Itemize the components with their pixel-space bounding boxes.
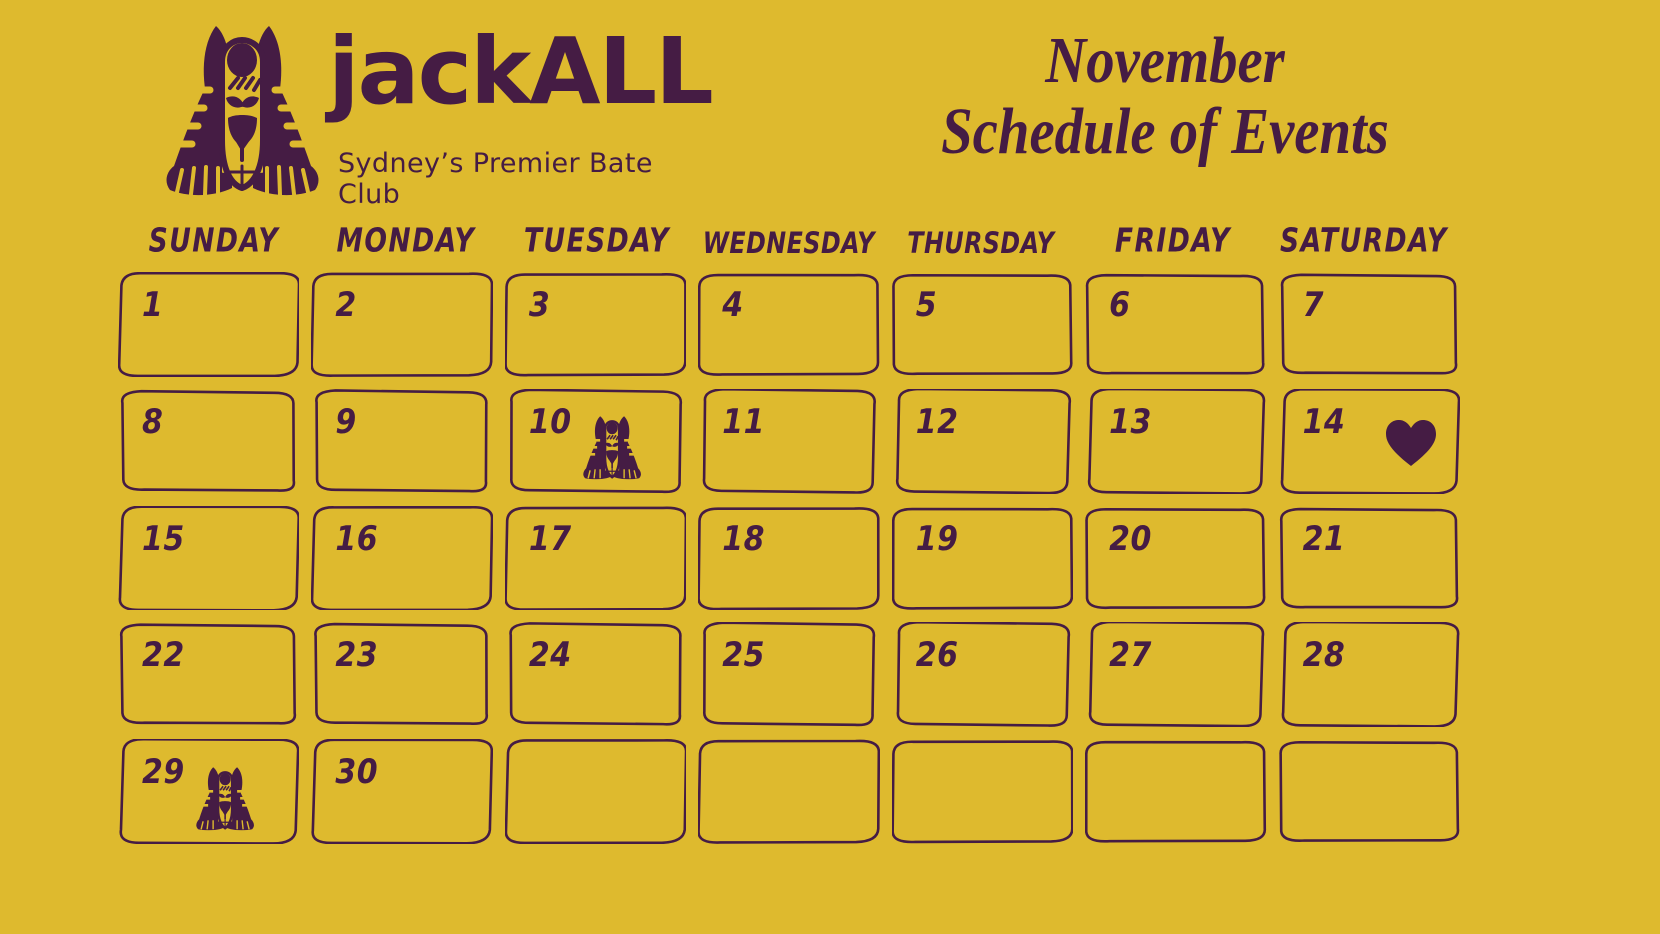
day-number: 6 <box>1109 286 1130 325</box>
calendar-day-cell[interactable]: 3 <box>505 272 686 377</box>
weekday-monday: MONDAY <box>314 221 496 260</box>
weekday-saturday: SATURDAY <box>1273 221 1455 260</box>
brand-lockup: jackALL Sydney’s Premier Bate Club <box>160 8 680 198</box>
weekday-header-row: SUNDAY MONDAY TUESDAY WEDNESDAY THURSDAY… <box>118 208 1460 260</box>
calendar-day-cell[interactable] <box>1085 739 1266 844</box>
day-number: 3 <box>529 286 550 325</box>
calendar-day-cell[interactable]: 16 <box>311 506 492 611</box>
day-number: 20 <box>1109 520 1152 559</box>
day-number: 15 <box>142 520 185 559</box>
day-cell-border <box>1085 739 1266 844</box>
brand-wordmark: jackALL <box>328 26 712 118</box>
calendar-day-cell[interactable] <box>505 739 686 844</box>
day-number: 1 <box>142 286 163 325</box>
calendar-day-cell[interactable]: 27 <box>1085 622 1266 727</box>
calendar-day-cell[interactable]: 15 <box>118 506 299 611</box>
anubis-jackal-head-icon <box>160 16 325 196</box>
day-number: 22 <box>142 636 185 675</box>
day-number: 5 <box>916 286 937 325</box>
title-month: November <box>765 26 1565 97</box>
day-number: 10 <box>529 403 572 442</box>
calendar-day-cell[interactable] <box>892 739 1073 844</box>
day-number: 16 <box>335 520 378 559</box>
weekday-tuesday: TUESDAY <box>506 221 688 260</box>
calendar-day-cell[interactable]: 10 <box>505 389 686 494</box>
calendar-day-cell[interactable]: 29 <box>118 739 299 844</box>
calendar-day-cell[interactable]: 22 <box>118 622 299 727</box>
day-number: 30 <box>335 753 378 792</box>
day-number: 27 <box>1109 636 1152 675</box>
calendar-day-cell[interactable]: 14 <box>1279 389 1460 494</box>
calendar-day-cell[interactable]: 23 <box>311 622 492 727</box>
calendar-day-cell[interactable]: 2 <box>311 272 492 377</box>
calendar-day-cell[interactable]: 12 <box>892 389 1073 494</box>
day-number: 24 <box>529 636 572 675</box>
day-number: 11 <box>722 403 765 442</box>
day-number: 8 <box>142 403 163 442</box>
day-number: 12 <box>916 403 959 442</box>
anubis-icon <box>194 764 256 830</box>
calendar-day-cell[interactable]: 11 <box>698 389 879 494</box>
day-number: 18 <box>722 520 765 559</box>
calendar-day-cell[interactable] <box>698 739 879 844</box>
calendar-day-cell[interactable]: 28 <box>1279 622 1460 727</box>
day-number: 14 <box>1303 403 1346 442</box>
calendar-day-cell[interactable]: 24 <box>505 622 686 727</box>
calendar-day-cell[interactable]: 26 <box>892 622 1073 727</box>
calendar-day-cell[interactable]: 21 <box>1279 506 1460 611</box>
day-number: 21 <box>1303 520 1346 559</box>
day-number: 23 <box>335 636 378 675</box>
page-title: November Schedule of Events <box>700 26 1630 167</box>
day-number: 17 <box>529 520 572 559</box>
title-subtitle: Schedule of Events <box>765 97 1565 168</box>
day-number: 25 <box>722 636 765 675</box>
day-number: 28 <box>1303 636 1346 675</box>
heart-icon <box>1384 418 1438 468</box>
weekday-wednesday: WEDNESDAY <box>698 226 880 260</box>
calendar-day-cell[interactable] <box>1279 739 1460 844</box>
weekday-thursday: THURSDAY <box>890 226 1072 260</box>
anubis-icon <box>581 413 643 479</box>
calendar-day-cell[interactable]: 18 <box>698 506 879 611</box>
day-number: 4 <box>722 286 743 325</box>
page-header: jackALL Sydney’s Premier Bate Club Novem… <box>0 0 1660 205</box>
day-cell-border <box>1279 739 1460 844</box>
day-number: 29 <box>142 753 185 792</box>
day-cell-border <box>505 739 686 844</box>
day-number: 26 <box>916 636 959 675</box>
day-number: 9 <box>335 403 356 442</box>
calendar-day-cell[interactable]: 4 <box>698 272 879 377</box>
calendar-day-cell[interactable]: 25 <box>698 622 879 727</box>
calendar-day-cell[interactable]: 8 <box>118 389 299 494</box>
calendar-day-cell[interactable]: 6 <box>1085 272 1266 377</box>
calendar-day-cell[interactable]: 9 <box>311 389 492 494</box>
calendar-day-cell[interactable]: 1 <box>118 272 299 377</box>
calendar-day-cell[interactable]: 13 <box>1085 389 1266 494</box>
day-number: 2 <box>335 286 356 325</box>
weekday-sunday: SUNDAY <box>123 221 305 260</box>
calendar-day-cell[interactable]: 30 <box>311 739 492 844</box>
day-cell-border <box>698 739 879 844</box>
calendar-day-cell[interactable]: 19 <box>892 506 1073 611</box>
calendar-day-cell[interactable]: 20 <box>1085 506 1266 611</box>
day-number: 7 <box>1303 286 1324 325</box>
day-cell-border <box>892 739 1073 844</box>
calendar-day-cell[interactable]: 7 <box>1279 272 1460 377</box>
brand-tagline: Sydney’s Premier Bate Club <box>338 148 680 210</box>
weekday-friday: FRIDAY <box>1081 221 1263 260</box>
calendar-day-cell[interactable]: 5 <box>892 272 1073 377</box>
calendar-grid: 1 2 3 4 5 6 7 8 9 10 <box>118 272 1460 844</box>
day-number: 13 <box>1109 403 1152 442</box>
day-number: 19 <box>916 520 959 559</box>
calendar-day-cell[interactable]: 17 <box>505 506 686 611</box>
